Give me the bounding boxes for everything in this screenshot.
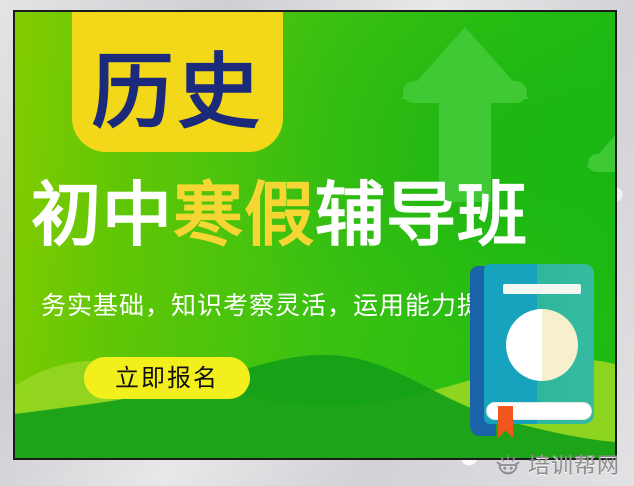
arrow-head-base [588,154,618,172]
enroll-now-button[interactable]: 立即报名 [84,357,250,399]
site-watermark-label: 培训帮网 [528,456,620,478]
enroll-now-label: 立即报名 [115,366,219,390]
ad-banner-page: 历史 初中寒假辅导班 务实基础，知识考察灵活，运用能力提升 立即报名 [0,0,634,486]
subject-badge-label: 历史 [91,52,263,134]
book-bookmark-icon [498,406,513,438]
book-circle-emblem [506,309,578,381]
book-title-band [503,284,581,294]
promo-banner[interactable]: 历史 初中寒假辅导班 务实基础，知识考察灵活，运用能力提升 立即报名 [13,10,617,460]
book-illustration [470,264,594,438]
headline-part-3: 辅导班 [315,174,528,256]
headline-part-1: 初中 [31,174,173,256]
subject-badge: 历史 [72,10,283,152]
arrow-shaft [617,160,618,260]
site-watermark: 培训帮网 [489,452,626,482]
headline: 初中寒假辅导班 [31,180,607,250]
sun-face-icon [495,454,521,480]
headline-part-2: 寒假 [173,174,315,256]
subtitle: 务实基础，知识考察灵活，运用能力提升 [41,293,509,318]
